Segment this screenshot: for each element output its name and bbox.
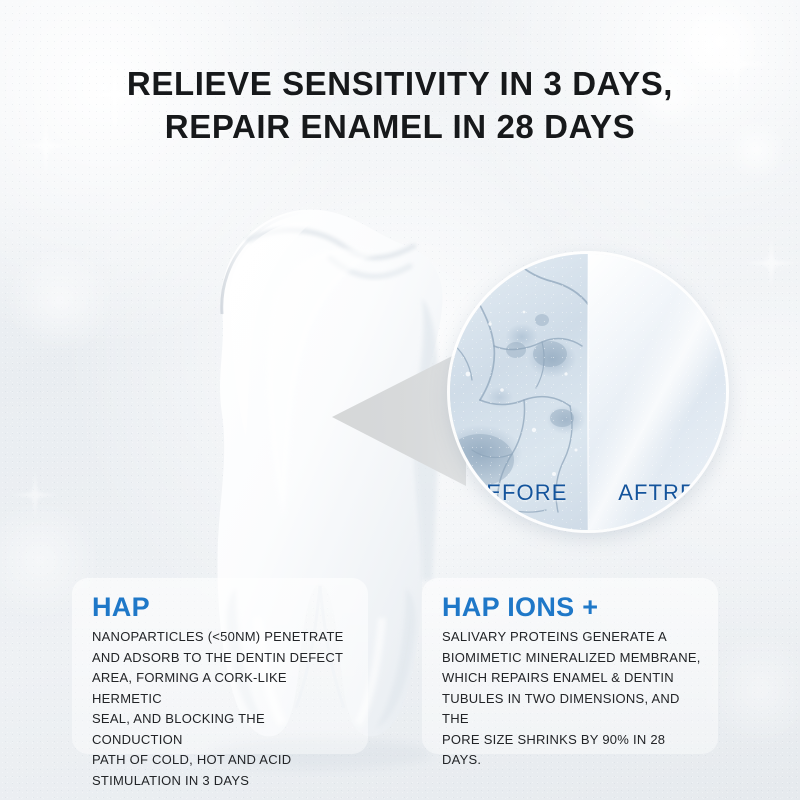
inset-labels: BEFORE AFTRE: [450, 480, 726, 506]
after-label: AFTRE: [588, 480, 726, 506]
panel-hap-ions-body: SALIVARY PROTEINS GENERATE A BIOMIMETIC …: [442, 627, 702, 771]
headline: RELIEVE SENSITIVITY IN 3 DAYS, REPAIR EN…: [0, 62, 800, 148]
panel-hap-ions: HAP IONS + SALIVARY PROTEINS GENERATE A …: [422, 578, 718, 754]
panel-hap-body: NANOPARTICLES (<50NM) PENETRATE AND ADSO…: [92, 627, 352, 791]
infographic-canvas: RELIEVE SENSITIVITY IN 3 DAYS, REPAIR EN…: [0, 0, 800, 800]
headline-line-2: REPAIR ENAMEL IN 28 DAYS: [0, 105, 800, 148]
headline-line-1: RELIEVE SENSITIVITY IN 3 DAYS,: [0, 62, 800, 105]
before-label: BEFORE: [450, 480, 588, 506]
before-after-inset: BEFORE AFTRE: [450, 254, 726, 530]
panel-hap-ions-title: HAP IONS +: [442, 592, 702, 622]
panel-hap: HAP NANOPARTICLES (<50NM) PENETRATE AND …: [72, 578, 368, 754]
panel-hap-title: HAP: [92, 592, 352, 622]
magnify-arrow-icon: [328, 345, 468, 490]
